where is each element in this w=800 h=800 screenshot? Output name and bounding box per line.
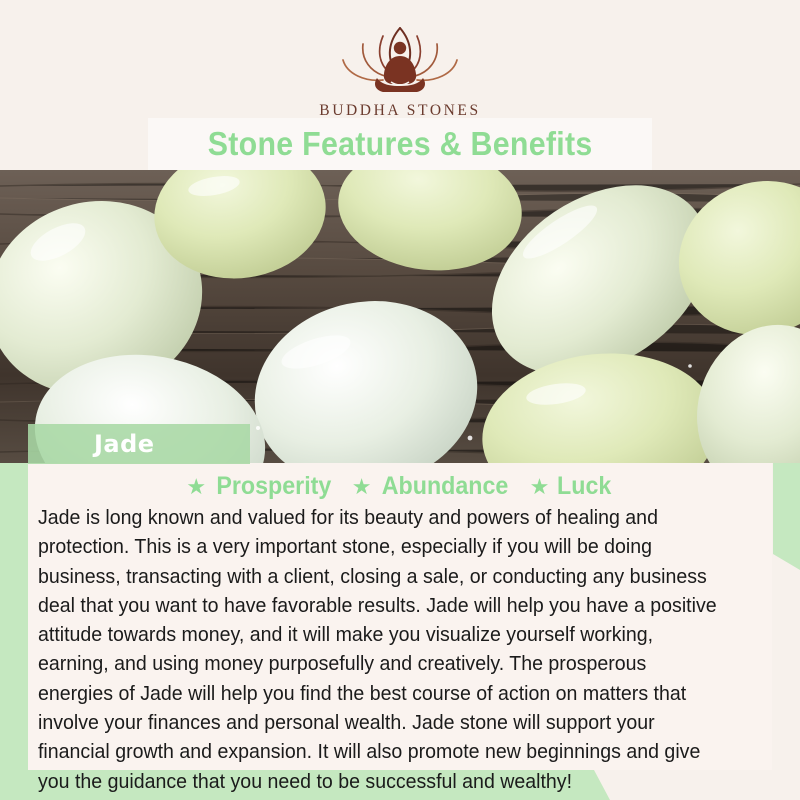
- stone-description: Jade is long known and valued for its be…: [38, 503, 726, 796]
- star-icon: ★: [186, 476, 206, 498]
- stone-name-banner: Jade: [28, 424, 250, 464]
- keyword-abundance: ★ Abundance: [352, 472, 514, 501]
- lotus-meditation-figure-icon: [325, 22, 475, 100]
- content-panel: ★ Prosperity ★ Abundance ★ Luck Jade is …: [28, 463, 772, 770]
- jade-stones-photo: [0, 170, 800, 463]
- keyword-prosperity: ★ Prosperity: [186, 472, 335, 501]
- stone-name: Jade: [94, 430, 155, 458]
- keyword-luck: ★ Luck: [530, 472, 614, 501]
- keyword-label: Abundance: [382, 472, 509, 501]
- star-icon: ★: [530, 476, 550, 498]
- keyword-label: Luck: [557, 472, 611, 501]
- keyword-label: Prosperity: [216, 472, 331, 501]
- infographic-page: BUDDHA STONES: [0, 0, 800, 800]
- keyword-list: ★ Prosperity ★ Abundance ★ Luck: [28, 463, 772, 497]
- star-icon: ★: [352, 476, 372, 498]
- page-title: Stone Features & Benefits: [208, 125, 593, 163]
- title-panel: Stone Features & Benefits: [148, 118, 652, 170]
- brand-logo: BUDDHA STONES: [240, 22, 560, 120]
